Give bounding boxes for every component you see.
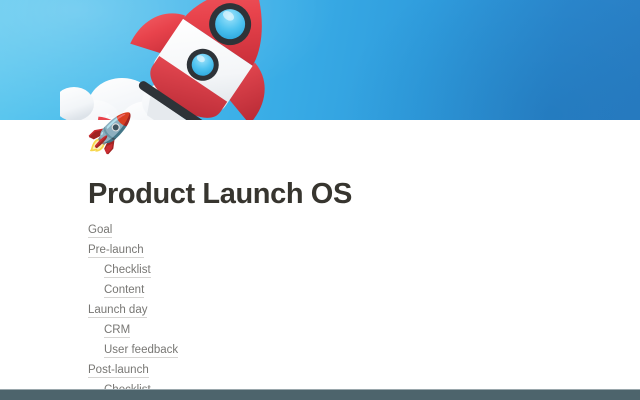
toc-link[interactable]: Content: [104, 284, 144, 298]
rocket-illustration: [60, 0, 360, 120]
toc-item: Checklist: [0, 380, 640, 389]
rocket-emoji-icon[interactable]: 🚀: [86, 112, 130, 156]
toc-link[interactable]: User feedback: [104, 344, 178, 358]
toc-link[interactable]: Pre-launch: [88, 244, 144, 258]
toc-link[interactable]: Launch day: [88, 304, 147, 318]
toc-item: Checklist: [0, 260, 640, 280]
toc-item: Post-launch: [0, 360, 640, 380]
toc-link[interactable]: CRM: [104, 324, 130, 338]
toc-item: Content: [0, 280, 640, 300]
toc-item: Launch day: [0, 300, 640, 320]
toc-link[interactable]: Post-launch: [88, 364, 149, 378]
page-scroll-container[interactable]: 🚀 Product Launch OS GoalPre-launchCheckl…: [0, 0, 640, 389]
cover-image[interactable]: [0, 0, 640, 120]
toc-link[interactable]: Goal: [88, 224, 112, 238]
toc-item: Pre-launch: [0, 240, 640, 260]
toc-item: User feedback: [0, 340, 640, 360]
horizontal-scrollbar[interactable]: [0, 389, 640, 400]
toc-link[interactable]: Checklist: [104, 264, 151, 278]
toc-item: Goal: [0, 220, 640, 240]
page-title[interactable]: Product Launch OS: [88, 178, 352, 211]
toc-item: CRM: [0, 320, 640, 340]
table-of-contents: GoalPre-launchChecklistContentLaunch day…: [0, 220, 640, 389]
